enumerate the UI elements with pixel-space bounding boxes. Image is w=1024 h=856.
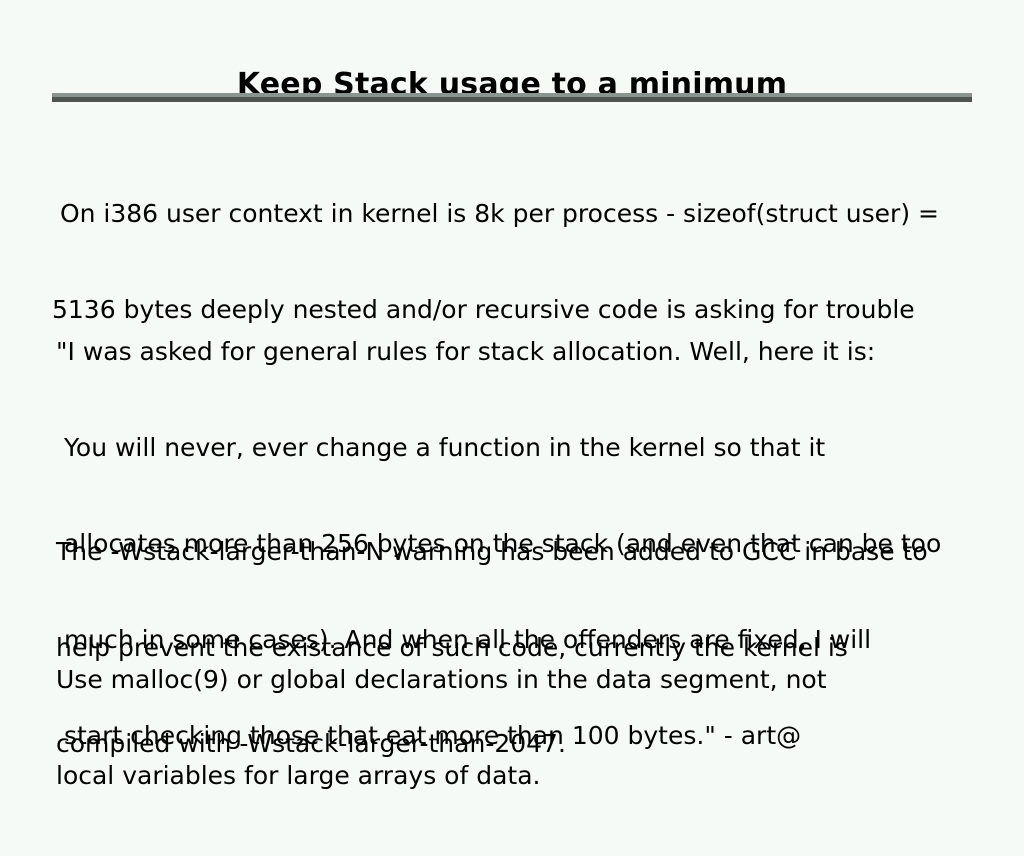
- intro-line-1: On i386 user context in kernel is 8k per…: [52, 198, 939, 230]
- presentation-slide: Keep Stack usage to a minimum On i386 us…: [0, 0, 1024, 768]
- malloc-advice-paragraph: Use malloc(9) or global declarations in …: [56, 600, 827, 856]
- gcc-line-1: The -Wstack-larger-than-N warning has be…: [56, 536, 928, 568]
- malloc-line-2: local variables for large arrays of data…: [56, 760, 827, 792]
- malloc-line-1: Use malloc(9) or global declarations in …: [56, 664, 827, 696]
- quote-line-2: You will never, ever change a function i…: [56, 432, 941, 464]
- title-divider: [52, 93, 972, 102]
- divider-dark-band: [52, 97, 972, 102]
- quote-line-1: "I was asked for general rules for stack…: [56, 336, 941, 368]
